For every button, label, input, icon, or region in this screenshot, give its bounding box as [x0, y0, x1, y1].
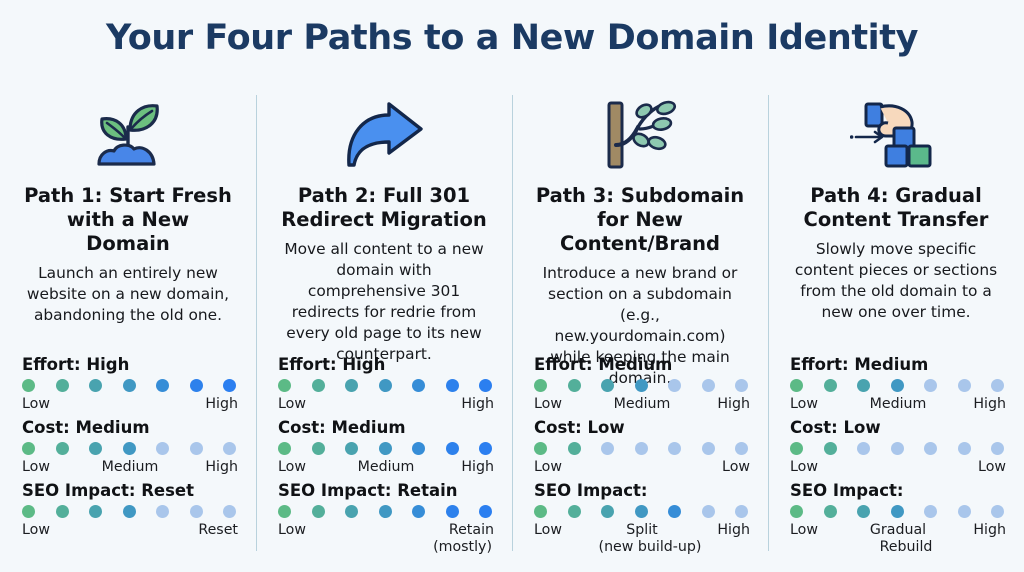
- scale-label-low: Low: [790, 458, 898, 476]
- dot-filled: [857, 505, 870, 518]
- dot-filled: [479, 379, 492, 392]
- scale-label-high: High: [422, 458, 494, 476]
- scale-label-low: Low: [22, 521, 130, 539]
- dot-empty: [958, 379, 971, 392]
- dot-filled: [790, 379, 803, 392]
- scale-label-mid: Split: [606, 521, 678, 539]
- dot-empty: [991, 442, 1004, 455]
- dot-filled: [22, 442, 35, 455]
- dot-filled: [824, 379, 837, 392]
- dot-empty: [924, 379, 937, 392]
- metric-row: SEO Impact:LowGradualHighRebuild: [790, 480, 1006, 556]
- dot-filled: [278, 379, 291, 392]
- dot-empty: [190, 442, 203, 455]
- paths-columns: Path 1: Start Fresh with a New Domain La…: [0, 92, 1024, 554]
- metric-dot-scale: [790, 505, 1006, 518]
- scale-label-low: Low: [790, 521, 862, 539]
- dot-filled: [412, 379, 425, 392]
- metric-dot-scale: [790, 442, 1006, 455]
- scale-label-high: High: [934, 395, 1006, 413]
- dot-empty: [223, 505, 236, 518]
- dot-filled: [345, 505, 358, 518]
- dot-filled: [824, 442, 837, 455]
- path-column-1: Path 1: Start Fresh with a New Domain La…: [0, 92, 256, 554]
- scale-label-high: Low: [642, 458, 750, 476]
- dot-filled: [790, 505, 803, 518]
- dot-empty: [958, 505, 971, 518]
- dot-empty: [735, 379, 748, 392]
- metric-label: Cost: Low: [534, 417, 750, 438]
- metric-label: SEO Impact: Retain: [278, 480, 494, 501]
- metric-dot-scale: [278, 379, 494, 392]
- dot-filled: [446, 442, 459, 455]
- dot-filled: [412, 505, 425, 518]
- scale-label-high: Reset: [130, 521, 238, 539]
- metric-dot-scale: [534, 442, 750, 455]
- dot-filled: [345, 379, 358, 392]
- metric-row: Effort: MediumLowMediumHigh: [534, 354, 750, 413]
- branching-tree-icon: [534, 92, 746, 178]
- scale-label-high: Retain: [386, 521, 494, 539]
- dot-empty: [702, 505, 715, 518]
- dot-empty: [991, 505, 1004, 518]
- scale-label-mid: Medium: [350, 458, 422, 476]
- dot-filled: [123, 505, 136, 518]
- metric-label: Effort: High: [22, 354, 238, 375]
- dot-filled: [534, 442, 547, 455]
- dot-filled: [568, 379, 581, 392]
- dot-filled: [790, 442, 803, 455]
- path-column-3: Path 3: Subdomain for New Content/Brand …: [512, 92, 768, 554]
- scale-label-high: High: [678, 395, 750, 413]
- metric-scale-labels: LowMediumHigh: [790, 395, 1006, 413]
- dot-filled: [824, 505, 837, 518]
- metric-scale-labels: LowMediumHigh: [278, 458, 494, 476]
- metric-dot-scale: [278, 442, 494, 455]
- scale-label-low: Low: [278, 458, 350, 476]
- metrics-list: Effort: MediumLowMediumHighCost: LowLowL…: [790, 354, 1006, 560]
- metric-row: SEO Impact:LowSplitHigh(new build-up): [534, 480, 750, 556]
- dot-filled: [312, 442, 325, 455]
- dot-filled: [635, 505, 648, 518]
- metric-row: Cost: LowLowLow: [790, 417, 1006, 476]
- path-title: Path 4: Gradual Content Transfer: [790, 184, 1002, 232]
- dot-empty: [891, 442, 904, 455]
- scale-label-low: Low: [534, 395, 606, 413]
- dot-filled: [278, 505, 291, 518]
- metric-row: Cost: LowLowLow: [534, 417, 750, 476]
- metric-scale-labels: LowLow: [790, 458, 1006, 476]
- path-title: Path 2: Full 301 Redirect Migration: [278, 184, 490, 232]
- dot-filled: [601, 379, 614, 392]
- dot-filled: [89, 442, 102, 455]
- path-column-4: Path 4: Gradual Content Transfer Slowly …: [768, 92, 1024, 554]
- scale-label-mid: Gradual: [862, 521, 934, 539]
- dot-filled: [479, 505, 492, 518]
- metric-scale-sublabel: (new build-up): [534, 538, 750, 556]
- dot-filled: [89, 505, 102, 518]
- scale-label-low: Low: [790, 395, 862, 413]
- metric-row: Cost: MediumLowMediumHigh: [278, 417, 494, 476]
- seedling-icon: [22, 92, 234, 178]
- metric-scale-labels: LowGradualHigh: [790, 521, 1006, 539]
- scale-label-high: High: [934, 521, 1006, 539]
- hand-moving-blocks-icon: [790, 92, 1002, 178]
- metrics-list: Effort: HighLowHighCost: MediumLowMedium…: [22, 354, 238, 543]
- path-description: Launch an entirely new website on a new …: [22, 263, 234, 326]
- dot-filled: [446, 379, 459, 392]
- dot-filled: [278, 442, 291, 455]
- metric-scale-labels: LowHigh: [22, 395, 238, 413]
- path-title: Path 1: Start Fresh with a New Domain: [22, 184, 234, 256]
- metric-dot-scale: [22, 379, 238, 392]
- dot-filled: [123, 379, 136, 392]
- metric-dot-scale: [534, 379, 750, 392]
- dot-filled: [190, 379, 203, 392]
- dot-filled: [668, 505, 681, 518]
- dot-empty: [156, 505, 169, 518]
- scale-label-low: Low: [22, 458, 94, 476]
- metric-label: Cost: Medium: [278, 417, 494, 438]
- dot-empty: [991, 379, 1004, 392]
- dot-filled: [857, 379, 870, 392]
- scale-label-low: Low: [278, 395, 386, 413]
- metric-dot-scale: [22, 442, 238, 455]
- metric-scale-labels: LowLow: [534, 458, 750, 476]
- scale-label-low: Low: [22, 395, 130, 413]
- metric-row: Cost: MediumLowMediumHigh: [22, 417, 238, 476]
- metric-dot-scale: [22, 505, 238, 518]
- dot-filled: [312, 505, 325, 518]
- dot-filled: [379, 505, 392, 518]
- metric-scale-sublabel: (mostly): [278, 538, 494, 556]
- dot-filled: [534, 379, 547, 392]
- dot-filled: [345, 442, 358, 455]
- scale-label-mid: Medium: [94, 458, 166, 476]
- dot-filled: [379, 442, 392, 455]
- dot-filled: [379, 379, 392, 392]
- metric-label: Cost: Low: [790, 417, 1006, 438]
- metric-row: SEO Impact: RetainLowRetain(mostly): [278, 480, 494, 556]
- dot-filled: [534, 505, 547, 518]
- dot-filled: [479, 442, 492, 455]
- dot-empty: [668, 442, 681, 455]
- metric-row: Effort: MediumLowMediumHigh: [790, 354, 1006, 413]
- dot-empty: [735, 505, 748, 518]
- metric-label: Effort: Medium: [790, 354, 1006, 375]
- metric-label: Effort: Medium: [534, 354, 750, 375]
- dot-filled: [56, 505, 69, 518]
- scale-label-low: Low: [534, 458, 642, 476]
- metric-label: Cost: Medium: [22, 417, 238, 438]
- metric-label: SEO Impact: Reset: [22, 480, 238, 501]
- dot-filled: [312, 379, 325, 392]
- dot-filled: [601, 505, 614, 518]
- metric-scale-sublabel: Rebuild: [790, 538, 1006, 556]
- page-title: Your Four Paths to a New Domain Identity: [0, 18, 1024, 58]
- metric-scale-labels: LowRetain: [278, 521, 494, 539]
- dot-empty: [924, 505, 937, 518]
- dot-empty: [156, 442, 169, 455]
- metric-row: Effort: HighLowHigh: [22, 354, 238, 413]
- metrics-list: Effort: MediumLowMediumHighCost: LowLowL…: [534, 354, 750, 560]
- dot-filled: [412, 442, 425, 455]
- dot-filled: [891, 379, 904, 392]
- dot-filled: [446, 505, 459, 518]
- metric-dot-scale: [278, 505, 494, 518]
- dot-filled: [22, 379, 35, 392]
- dot-empty: [735, 442, 748, 455]
- scale-label-high: High: [386, 395, 494, 413]
- metric-row: SEO Impact: ResetLowReset: [22, 480, 238, 539]
- path-description: Slowly move specific content pieces or s…: [790, 239, 1002, 323]
- dot-filled: [56, 379, 69, 392]
- metric-dot-scale: [534, 505, 750, 518]
- metric-scale-labels: LowReset: [22, 521, 238, 539]
- scale-label-low: Low: [534, 521, 606, 539]
- scale-label-low: Low: [278, 521, 386, 539]
- metric-scale-labels: LowMediumHigh: [22, 458, 238, 476]
- dot-filled: [223, 379, 236, 392]
- dot-filled: [56, 442, 69, 455]
- scale-label-high: High: [130, 395, 238, 413]
- dot-empty: [635, 442, 648, 455]
- curved-arrow-icon: [278, 92, 490, 178]
- path-title: Path 3: Subdomain for New Content/Brand: [534, 184, 746, 256]
- metric-dot-scale: [790, 379, 1006, 392]
- dot-empty: [702, 442, 715, 455]
- metric-scale-labels: LowMediumHigh: [534, 395, 750, 413]
- dot-empty: [702, 379, 715, 392]
- scale-label-mid: Medium: [606, 395, 678, 413]
- metric-row: Effort: HighLowHigh: [278, 354, 494, 413]
- scale-label-high: Low: [898, 458, 1006, 476]
- path-description: Move all content to a new domain with co…: [278, 239, 490, 365]
- dot-empty: [958, 442, 971, 455]
- dot-filled: [635, 379, 648, 392]
- dot-filled: [22, 505, 35, 518]
- dot-filled: [568, 442, 581, 455]
- metric-scale-labels: LowHigh: [278, 395, 494, 413]
- dot-empty: [223, 442, 236, 455]
- scale-label-high: High: [678, 521, 750, 539]
- dot-filled: [156, 379, 169, 392]
- dot-empty: [668, 379, 681, 392]
- metric-scale-labels: LowSplitHigh: [534, 521, 750, 539]
- dot-empty: [190, 505, 203, 518]
- dot-filled: [568, 505, 581, 518]
- dot-empty: [601, 442, 614, 455]
- dot-filled: [89, 379, 102, 392]
- dot-empty: [924, 442, 937, 455]
- infographic-root: Your Four Paths to a New Domain Identity…: [0, 0, 1024, 572]
- scale-label-mid: Medium: [862, 395, 934, 413]
- metric-label: SEO Impact:: [534, 480, 750, 501]
- dot-filled: [891, 505, 904, 518]
- metric-label: Effort: High: [278, 354, 494, 375]
- path-column-2: Path 2: Full 301 Redirect Migration Move…: [256, 92, 512, 554]
- scale-label-high: High: [166, 458, 238, 476]
- dot-empty: [857, 442, 870, 455]
- metric-label: SEO Impact:: [790, 480, 1006, 501]
- metrics-list: Effort: HighLowHighCost: MediumLowMedium…: [278, 354, 494, 560]
- dot-filled: [123, 442, 136, 455]
